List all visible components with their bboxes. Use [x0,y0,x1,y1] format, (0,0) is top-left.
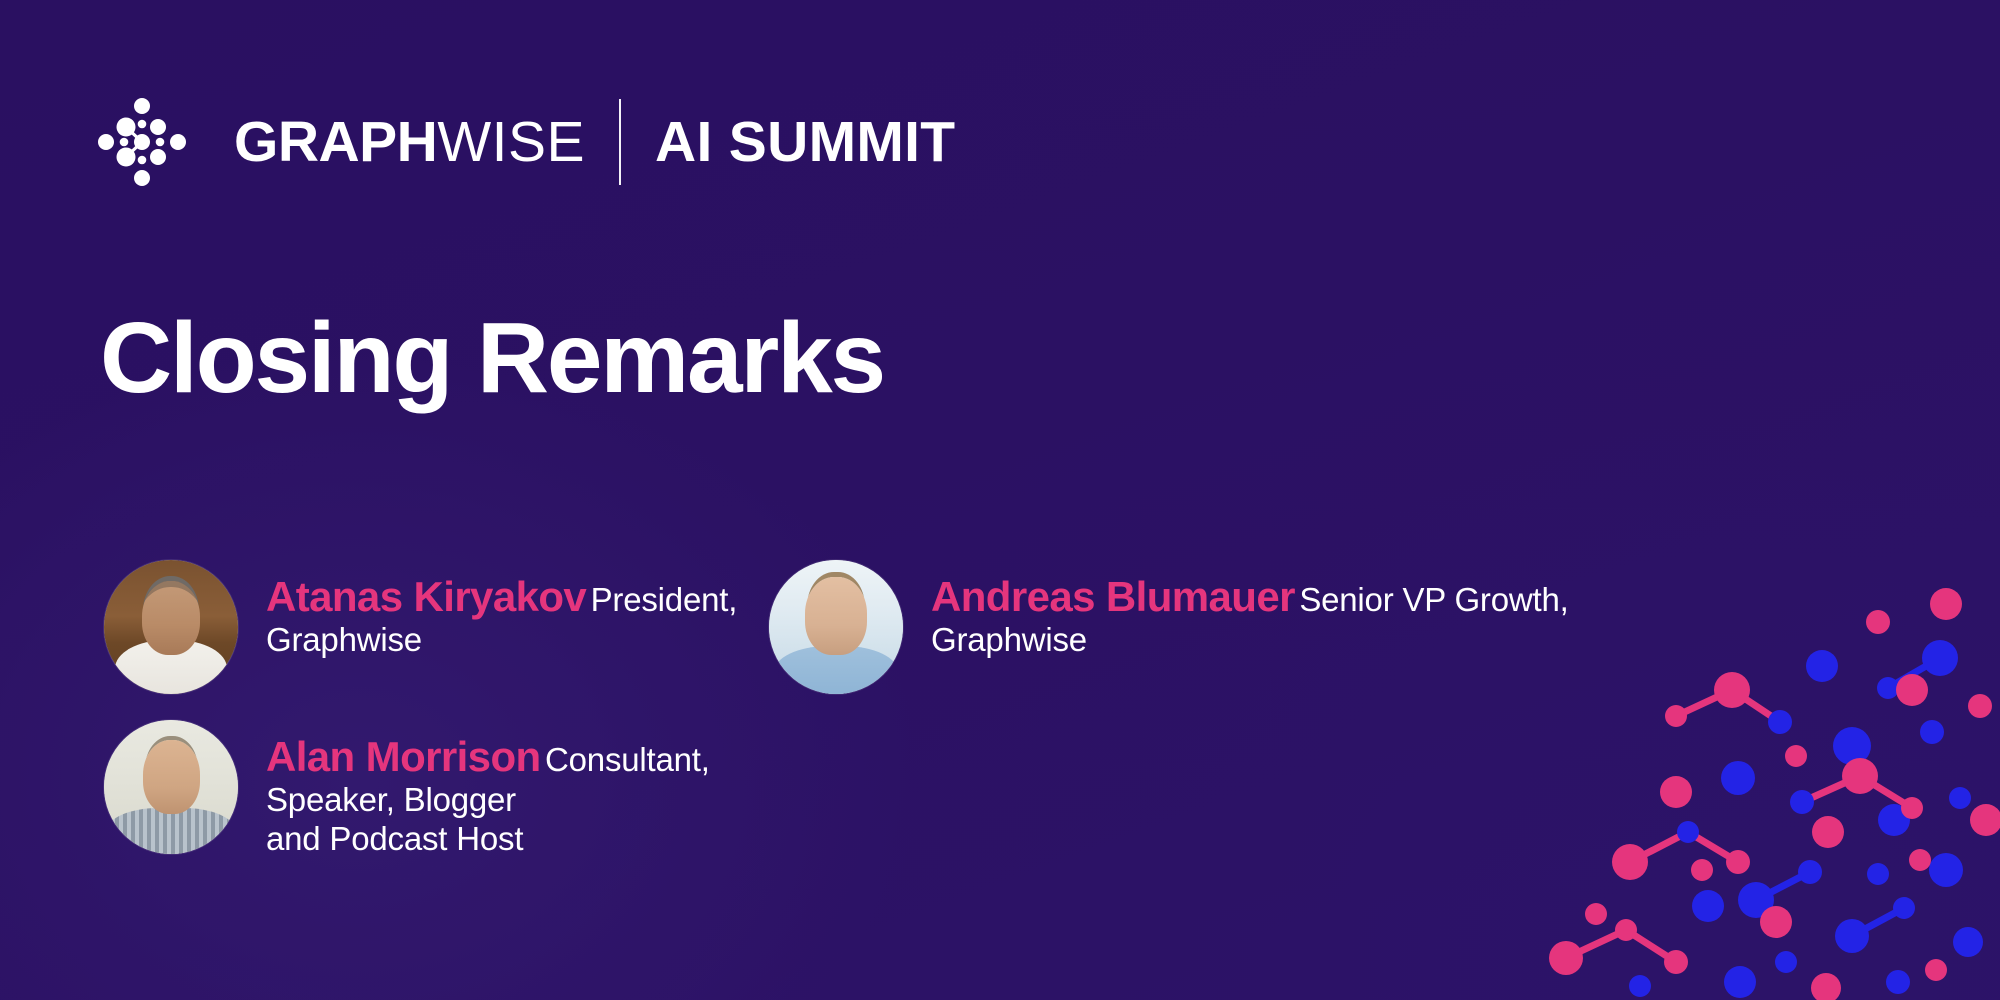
slide-canvas: GRAPH WISE AI SUMMIT Closing Remarks Ata… [0,0,2000,1000]
wordmark: GRAPH WISE AI SUMMIT [234,96,955,188]
speaker-text: Alan Morrison Consultant, Speaker, Blogg… [266,720,769,859]
speaker-text: Andreas Blumauer Senior VP Growth, Graph… [931,560,1569,659]
avatar-alan-morrison [104,720,238,854]
speaker-name: Andreas Blumauer [931,573,1295,620]
brand-name-bold: GRAPH [234,114,437,171]
speaker-row: Alan Morrison Consultant, Speaker, Blogg… [104,720,1664,859]
speaker-name: Atanas Kiryakov [266,573,586,620]
brand-name-light: WISE [437,114,585,171]
speaker-row: Atanas Kiryakov President, Graphwise And… [104,560,1664,694]
brand-bar: GRAPH WISE AI SUMMIT [96,96,955,188]
speaker-card-atanas-kiryakov: Atanas Kiryakov President, Graphwise [104,560,769,694]
avatar-andreas-blumauer [769,560,903,694]
page-title: Closing Remarks [100,307,884,409]
graphwise-node-network-icon [96,96,188,188]
speaker-card-alan-morrison: Alan Morrison Consultant, Speaker, Blogg… [104,720,769,859]
avatar-atanas-kiryakov [104,560,238,694]
speaker-text: Atanas Kiryakov President, Graphwise [266,560,769,659]
event-name: AI SUMMIT [655,114,955,171]
speaker-name: Alan Morrison [266,733,541,780]
brand-divider [619,99,621,185]
speaker-list: Atanas Kiryakov President, Graphwise And… [104,560,1664,859]
speaker-card-andreas-blumauer: Andreas Blumauer Senior VP Growth, Graph… [769,560,1569,694]
